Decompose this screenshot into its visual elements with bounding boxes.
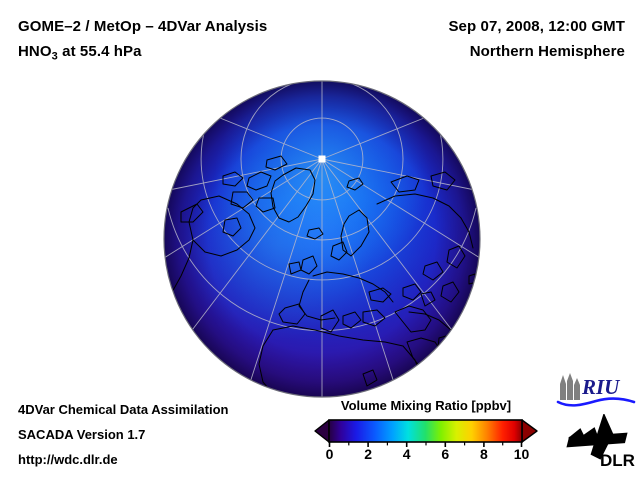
footer-line-url[interactable]: http://wdc.dlr.de [18,452,118,467]
colorbar-low-extend-arrow [315,420,329,442]
colorbar-high-extend-arrow [522,420,537,442]
colorbar: Volume Mixing Ratio [ppbv] [310,398,542,476]
north-pole-marker [319,156,326,163]
dlr-wordmark: DLR [600,451,635,470]
colorbar-tick-4: 4 [403,446,411,462]
pressure-level: at 55.4 hPa [58,43,142,60]
globe-svg [163,80,481,398]
colorbar-scale [310,417,542,447]
datetime-label: Sep 07, 2008, 12:00 GMT [448,18,625,35]
globe-map [163,80,481,398]
colorbar-tick-labels: 0 2 4 6 8 10 [310,446,542,468]
riu-wordmark: RIU [581,375,621,399]
species-formula: HNO [18,43,52,60]
footer-line-version: SACADA Version 1.7 [18,427,145,442]
species-level-label: HNO3 at 55.4 hPa [18,43,142,62]
colorbar-tick-8: 8 [480,446,488,462]
colorbar-tick-2: 2 [364,446,372,462]
riu-logo: RIU [556,372,636,408]
riu-towers-icon [560,373,580,400]
dlr-logo: DLR [566,414,638,470]
riu-logo-svg: RIU [556,372,636,408]
colorbar-tick-10: 10 [514,446,530,462]
visualization-page: GOME–2 / MetOp – 4DVar Analysis HNO3 at … [0,0,640,480]
page-title: GOME–2 / MetOp – 4DVar Analysis [18,18,267,35]
colorbar-tick-0: 0 [326,446,334,462]
dlr-logo-svg: DLR [566,414,638,470]
footer-line-assimilation: 4DVar Chemical Data Assimilation [18,402,229,417]
colorbar-gradient [329,420,522,442]
colorbar-title: Volume Mixing Ratio [ppbv] [310,398,542,413]
colorbar-tick-6: 6 [441,446,449,462]
region-label: Northern Hemisphere [470,43,625,60]
